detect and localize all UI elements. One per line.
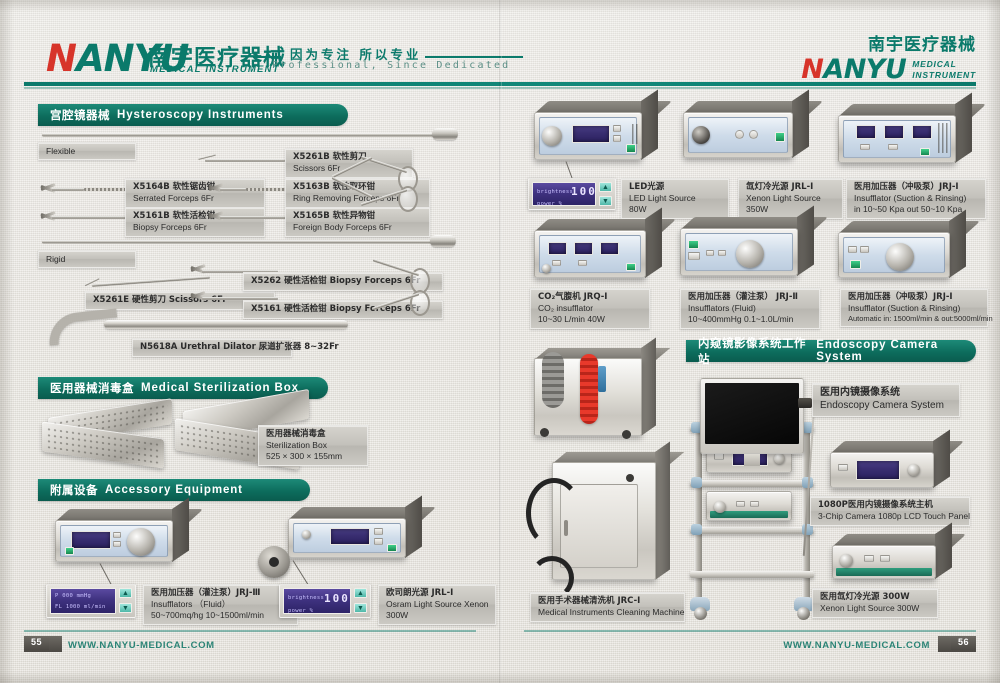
section-header-camera-en: Endoscopy Camera System [816,339,976,363]
page-edge-bottom [0,671,1000,683]
device-xenon-light-source-300w [832,545,936,579]
lcd-down-button[interactable]: ▼ [354,603,367,613]
device-lcd [330,528,370,545]
dilator-body [104,320,348,329]
lcd-screen: brightness 100 power % [532,182,596,206]
power-button[interactable] [688,240,699,249]
device-button[interactable] [688,252,700,260]
device-lcd [884,125,904,139]
device-co2-insufflator [534,230,646,278]
device-vent [938,123,948,153]
device-side-face [792,90,809,158]
device-lcd [574,242,593,255]
lcd-value: 100 [571,185,597,198]
brand-subtitle-line2: INSTRUMENT [912,70,976,81]
product-label-insufflator-jrj2: 医用加压器（灌注泵） JRJ-Ⅱ Insufflators (Fluid) 10… [680,288,820,329]
slogan-english: Professional, Since Dedicated [272,60,510,71]
instrument-shaft [220,188,246,191]
light-guide-bore [269,557,279,567]
product-label-camera-system-main: 医用内镜摄像系统 Endoscopy Camera System [812,383,960,417]
product-label-n5618a: N5618A Urethral Dilator 尿道扩张器 8~32Fr [132,338,292,357]
product-label-insufflator-jrj1-auto: 医用加压器（冲吸泵）JRJ-Ⅰ Insufflator (Suction & R… [840,288,988,327]
section-header-hysteroscopy-cn: 宫腔镜器械 [50,107,110,123]
lcd-line-2: FL 1000 ml/min [55,604,106,610]
section-header-hysteroscopy: 宫腔镜器械 Hysteroscopy Instruments [38,104,348,126]
co2-spec: 10~30 L/min 40W [538,314,642,325]
instrument-shaft [205,159,285,162]
cleaning-machine-en: Medical Instruments Cleaning Machine [538,607,677,618]
section-header-sterilization-cn: 医用器械消毒盒 [50,380,134,396]
device-side-face [935,523,952,579]
lcd-up-button[interactable]: ▲ [354,588,367,598]
product-label-x5165b-en: Foreign Body Forceps 6Fr [293,222,422,233]
section-header-accessory: 附属设备 Accessory Equipment [38,479,310,501]
lcd-value: 100 [324,592,350,605]
device-lcd [548,242,567,255]
product-label-x5164b-en: Serrated Forceps 6Fr [133,193,257,204]
product-label-x5262-cn: X5262 硬性活检钳 Biopsy Forceps 6Fr [251,276,435,287]
device-insufflator-pump [55,520,173,562]
brand-wordmark-right: NANYU [801,56,906,83]
device-button[interactable] [860,144,870,150]
rigid-scope-eyepiece [430,235,456,247]
device-cart-light-source [706,491,792,521]
machine-hose-black [526,478,582,548]
instrument-shaft [92,276,210,287]
device-vent [632,124,638,144]
xenon-300w-cn: 医用氙灯冷光源 300W [820,592,930,603]
xenon-cn: 氙灯冷光源 JRL-Ⅰ [746,182,835,193]
product-label-co2-insufflator: CO₂气腹机 JRQ-Ⅰ CO₂ insufflator 10~30 L/min… [530,288,650,329]
device-button[interactable] [736,501,745,507]
brand-initial: N [46,37,76,80]
light-port [302,530,311,539]
cart-joint [691,524,702,535]
gas-port [542,264,551,273]
osram-lcd-detail: brightness 100 power % ▲ ▼ [279,584,371,618]
device-button[interactable] [613,135,621,142]
device-button[interactable] [749,130,758,139]
device-button[interactable] [113,541,121,547]
lcd-up-button[interactable]: ▲ [599,182,612,192]
product-label-x5164b: X5164B 软性锯齿钳 Serrated Forceps 6Fr [125,178,265,208]
power-button[interactable] [920,148,930,156]
box-perforations [46,426,160,464]
device-insufflator-fluid-jrj2 [680,228,798,276]
monitor-screen [705,383,799,444]
insufflator-jrj3-cn: 医用加压器（灌注泵）JRJ-Ⅲ [151,588,290,599]
machine-right-face [655,441,670,580]
power-button[interactable] [850,260,861,269]
footer-rule-right [524,630,976,632]
cart-wheel-right [797,607,810,620]
device-button[interactable] [860,246,869,253]
instrument-shaft [52,216,136,219]
device-button[interactable] [838,464,848,471]
led-spec: 80W [629,204,721,215]
camera-host-en: 3-Chip Camera 1080p LCD Touch Panel [818,511,962,522]
brand-logo-right: 南宇医疗器械 NANYU MEDICAL INSTRUMENT [801,36,976,83]
power-button[interactable] [626,263,636,271]
instrument-jaw [190,290,204,302]
footer-rule-left [24,630,476,632]
lcd-down-button[interactable]: ▼ [119,603,132,613]
insufflator-jrj1-en: Insufflator (Suction & Rinsing) [854,193,978,204]
light-output-port [714,501,726,513]
page-number-right: 56 [951,636,976,650]
brand-chinese-right: 南宇医疗器械 [801,36,976,55]
co2-en: CO₂ insufflator [538,303,642,314]
section-header-sterilization-en: Medical Sterilization Box [141,382,299,394]
machine-caster [622,430,631,439]
header-rule-right [425,56,523,58]
device-button[interactable] [888,144,898,150]
machine-caster [540,428,549,437]
product-label-x5161b: X5161B 软性活检钳 Biopsy Forceps 6Fr [125,207,265,237]
header-rule-left [253,56,281,58]
power-button[interactable] [65,547,74,555]
device-button[interactable] [374,528,383,535]
device-button[interactable] [714,453,724,460]
product-label-camera-host: 1080P医用内镜摄像系统主机 3-Chip Camera 1080p LCD … [810,496,970,526]
machine-right-face [641,337,656,436]
product-label-insufflator-fluid-jrj3: 医用加压器（灌注泵）JRJ-Ⅲ Insufflators （Fluid） 50~… [143,584,298,625]
light-output-port [692,126,710,144]
lcd-down-button[interactable]: ▼ [599,196,612,206]
xenon-spec: 350W [746,204,835,215]
page-edge-right [986,0,1000,683]
device-side-face [172,498,189,562]
device-lcd-touch-panel[interactable] [856,460,900,480]
device-lcd [912,125,932,139]
device-button[interactable] [374,538,383,545]
osram-jrl1-cn: 欧司朗光源 JRL-Ⅰ [386,588,488,599]
pump-rotor-knob[interactable] [127,528,155,556]
product-label-xenon-300w: 医用氙灯冷光源 300W Xenon Light Source 300W [812,588,938,618]
device-insufflator-jrj1-auto [838,232,950,278]
page-number-left: 55 [24,636,49,650]
device-green-stripe [836,568,932,576]
section-header-camera-cn: 内窥镜影像系统工作站 [698,335,809,367]
catalog-page: NANYU 南宇医疗器械 MEDICAL INSTRUMENT 因为专注 所以专… [0,0,1000,683]
product-label-n5618a-text: N5618A Urethral Dilator 尿道扩张器 8~32Fr [140,342,284,353]
co2-cn: CO₂气腹机 JRQ-Ⅰ [538,292,642,303]
cart-shelf-2 [690,480,814,487]
lcd-line-1: P 000 mmHg [55,593,91,599]
xenon-en: Xenon Light Source [746,193,835,204]
section-header-hysteroscopy-en: Hysteroscopy Instruments [117,109,284,121]
light-output-port [840,554,853,567]
power-button[interactable] [775,132,785,142]
led-en: LED Light Source [629,193,721,204]
lcd-screen: P 000 mmHg FL 1000 ml/min [50,588,116,614]
device-side-face [797,206,814,276]
section-header-camera-system: 内窥镜影像系统工作站 Endoscopy Camera System [686,340,976,362]
device-button[interactable] [718,250,726,256]
cart-monitor [700,378,804,454]
insufflator-jrj1-cn: 医用加压器（冲吸泵）JRJ-Ⅰ [854,182,978,193]
device-button[interactable] [578,260,587,266]
device-button[interactable] [750,501,759,507]
device-led-light-source [534,112,642,160]
pump-rotor-knob[interactable] [886,243,914,271]
cart-joint [691,477,702,488]
sterilization-box-closed [42,408,172,464]
product-label-cleaning-machine: 医用手术器械清洗机 JRC-Ⅰ Medical Instruments Clea… [530,592,685,622]
group-label-rigid-text: Rigid [46,254,128,265]
footer-url-right[interactable]: WWW.NANYU-MEDICAL.COM [783,640,930,651]
section-header-accessory-en: Accessory Equipment [105,484,243,496]
device-lcd [572,125,610,143]
lcd-screen: brightness 100 power % [283,588,351,614]
device-button[interactable] [613,125,621,132]
pump-rotor-knob[interactable] [736,240,764,268]
product-label-sterilization-box: 医用器械消毒盒 Sterilization Box 525 × 300 × 15… [258,425,368,466]
jrj2-en: Insufflators (Fluid) [688,303,812,314]
cart-shelf-4 [690,571,814,578]
group-label-flexible-text: Flexible [46,146,128,157]
group-label-flexible: Flexible [38,142,136,160]
device-xenon-light-source [683,112,793,158]
product-label-x5261b-cn: X5261B 软性剪刀 [293,152,405,163]
device-lcd [856,125,876,139]
product-label-x5261b: X5261B 软性剪刀 Scissors 6Fr [285,148,413,178]
device-lcd [71,531,111,549]
jrj1-auto-spec: Automatic in: 1500ml/min & out:5000ml/mi… [848,314,980,324]
brand-subtitle-line1: MEDICAL [912,59,976,70]
lcd-up-button[interactable]: ▲ [119,588,132,598]
product-label-x5161b-en: Biopsy Forceps 6Fr [133,222,257,233]
camera-head [798,398,812,408]
spray-gun [598,366,606,392]
cart-wheel-left [694,607,707,620]
device-knob[interactable] [774,453,785,464]
device-knob[interactable] [908,464,920,476]
monitor-stand [744,454,760,466]
cart-shelf-3 [690,527,814,534]
product-label-xenon-jrl1: 氙灯冷光源 JRL-Ⅰ Xenon Light Source 350W [738,178,843,219]
instrument-shaft [220,216,290,219]
device-insufflator-suction-rinsing [838,115,956,163]
rigid-scope-shaft [42,240,440,244]
page-edge-left [0,0,14,683]
cleaning-machine-cn: 医用手术器械清洗机 JRC-Ⅰ [538,596,677,607]
device-osram-light-source [288,518,406,558]
machine-indicator [626,474,634,482]
group-label-rigid: Rigid [38,250,136,268]
insufflator-jrj3-en: Insufflators （Fluid） [151,599,290,610]
camera-main-cn: 医用内镜摄像系统 [820,387,952,400]
osram-jrl1-spec: 300W [386,610,488,621]
device-button[interactable] [880,555,890,562]
device-side-face [955,93,972,163]
sterilization-box-en: Sterilization Box [266,440,360,451]
device-button[interactable] [735,130,744,139]
coiled-hose-red [580,354,598,424]
instrument-shaft [52,188,84,191]
lcd-line-2: power % [537,201,562,207]
lcd-line-2: power % [288,608,313,614]
product-label-x5165b-cn: X5165B 软性异物钳 [293,211,422,222]
xenon-300w-en: Xenon Light Source 300W [820,603,930,614]
brand-subtitle-right: MEDICAL INSTRUMENT [912,59,976,82]
section-header-accessory-cn: 附属设备 [50,482,98,498]
device-button[interactable] [848,246,857,253]
device-side-face [641,90,658,160]
instrument-jaw [190,263,204,275]
camera-main-en: Endoscopy Camera System [820,400,952,413]
lcd-label: brightness [537,189,573,195]
coiled-hose-gray [542,352,564,408]
instrument-shaft-coil [246,188,290,191]
sterilization-box-cn: 医用器械消毒盒 [266,429,360,440]
osram-jrl1-en: Osram Light Source Xenon [386,599,488,610]
jrj1-auto-en: Insufflator (Suction & Rinsing) [848,303,980,314]
footer-url-left[interactable]: WWW.NANYU-MEDICAL.COM [68,640,215,651]
jrj1-auto-cn: 医用加压器（冲吸泵）JRJ-Ⅰ [848,292,980,303]
page-spine [499,0,502,683]
camera-host-cn: 1080P医用内镜摄像系统主机 [818,500,962,511]
power-button[interactable] [626,144,636,153]
insufflator-lcd-detail: P 000 mmHg FL 1000 ml/min ▲ ▼ [46,584,136,618]
device-side-face [949,210,966,278]
cleaning-machine-upper [534,358,642,436]
device-side-face [405,496,422,558]
insufflator-jrj3-spec: 50~700mq/hg 10~1500ml/min [151,610,290,621]
jrj2-spec: 10~400mmHg 0.1~1.0L/min [688,314,812,325]
device-lcd [600,242,619,255]
device-button[interactable] [864,555,874,562]
page-edge-top [0,0,1000,12]
product-label-osram-jrl1: 欧司朗光源 JRL-Ⅰ Osram Light Source Xenon 300… [378,584,496,625]
flexible-scope-eyepiece [432,128,458,140]
flexible-scope-shaft [42,133,442,137]
sterilization-box-size: 525 × 300 × 155mm [266,451,360,462]
device-side-face [645,208,662,278]
device-camera-host-1080p [830,452,934,488]
brand-subtitle-left: MEDICAL INSTRUMENT [150,64,280,75]
lcd-label: brightness [288,595,324,601]
power-button[interactable] [387,544,397,552]
device-button[interactable] [706,250,714,256]
led-cn: LED光源 [629,182,721,193]
device-button[interactable] [113,532,121,538]
device-button[interactable] [552,260,561,266]
jrj2-cn: 医用加压器（灌注泵） JRJ-Ⅱ [688,292,812,303]
device-side-face [933,430,950,488]
led-lcd-detail: brightness 100 power % ▲ ▼ [528,178,616,210]
light-output-port [542,126,562,146]
product-label-led-light-source: LED光源 LED Light Source 80W [621,178,729,219]
